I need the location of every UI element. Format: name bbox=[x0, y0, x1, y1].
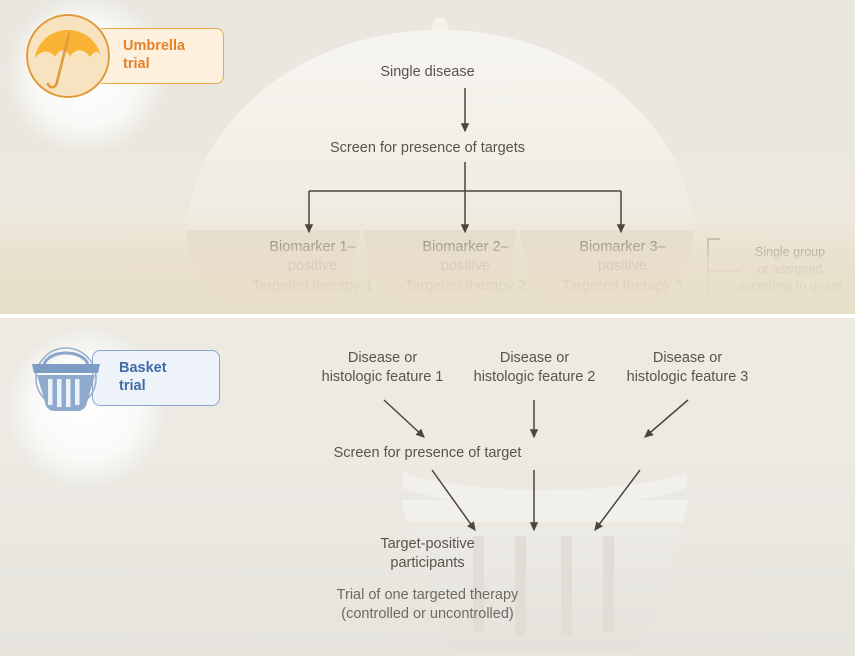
clinical-trial-designs-figure: Umbrella trial Single disease Screen for… bbox=[0, 0, 855, 656]
outcome-line1: Trial of one targeted therapy bbox=[337, 587, 519, 603]
outcome-line2: (controlled or uncontrolled) bbox=[341, 606, 513, 622]
bracket-note-line3: according to group bbox=[738, 279, 842, 293]
branch-1-line1: Biomarker 1– bbox=[269, 239, 355, 255]
basket-node-screen: Screen for presence of target bbox=[0, 444, 855, 463]
basket-pool-label: Target-positive participants bbox=[0, 535, 855, 574]
basket-input-3: Disease or histologic feature 3 bbox=[605, 349, 770, 388]
input-2-line1: Disease or bbox=[500, 350, 569, 366]
umbrella-icon bbox=[26, 14, 110, 98]
pool-line2: participants bbox=[390, 555, 464, 571]
branch-1-line2: positive bbox=[288, 258, 337, 274]
input-1-line1: Disease or bbox=[348, 350, 417, 366]
basket-input-1: Disease or histologic feature 1 bbox=[300, 349, 465, 388]
umbrella-branch-3: Biomarker 3– positive Targeted therapy 3 bbox=[535, 238, 710, 296]
branch-3-line1: Biomarker 3– bbox=[579, 239, 665, 255]
basket-outcome-label: Trial of one targeted therapy (controlle… bbox=[0, 586, 855, 625]
basket-input-2: Disease or histologic feature 2 bbox=[452, 349, 617, 388]
branch-2-line1: Biomarker 2– bbox=[422, 239, 508, 255]
umbrella-single-disease-label: Single disease bbox=[380, 64, 474, 80]
umbrella-screen-label: Screen for presence of targets bbox=[330, 140, 525, 156]
branch-3-line3: Targeted therapy 3 bbox=[562, 278, 683, 294]
umbrella-badge-label-line2: trial bbox=[123, 56, 150, 72]
basket-trial-badge[interactable]: Basket trial bbox=[26, 338, 220, 418]
basket-badge-label-line2: trial bbox=[119, 378, 146, 394]
umbrella-node-screen: Screen for presence of targets bbox=[0, 139, 855, 158]
umbrella-badge-label-line1: Umbrella bbox=[123, 38, 185, 54]
bracket-note-line1: Single group bbox=[755, 245, 825, 259]
branch-2-line3: Targeted therapy 2 bbox=[405, 278, 526, 294]
basket-badge-label: Basket trial bbox=[92, 350, 220, 405]
pool-line1: Target-positive bbox=[380, 536, 474, 552]
umbrella-branch-2: Biomarker 2– positive Targeted therapy 2 bbox=[378, 238, 553, 296]
input-3-line2: histologic feature 3 bbox=[627, 369, 749, 385]
input-2-line2: histologic feature 2 bbox=[474, 369, 596, 385]
bracket-note-line2: or assigned bbox=[758, 262, 823, 276]
umbrella-branch-1: Biomarker 1– positive Targeted therapy 1 bbox=[225, 238, 400, 296]
basket-trial-section: Basket trial Disease or histologic featu… bbox=[0, 318, 855, 656]
umbrella-badge-label: Umbrella trial bbox=[96, 28, 224, 83]
branch-1-line3: Targeted therapy 1 bbox=[252, 278, 373, 294]
umbrella-trial-section: Umbrella trial Single disease Screen for… bbox=[0, 0, 855, 314]
umbrella-bracket-note: Single group or assigned according to gr… bbox=[728, 244, 852, 295]
basket-screen-label: Screen for presence of target bbox=[334, 445, 522, 461]
input-3-line1: Disease or bbox=[653, 350, 722, 366]
branch-2-line2: positive bbox=[441, 258, 490, 274]
basket-icon bbox=[26, 338, 106, 418]
umbrella-trial-badge[interactable]: Umbrella trial bbox=[26, 14, 224, 98]
input-1-line2: histologic feature 1 bbox=[322, 369, 444, 385]
basket-badge-label-line1: Basket bbox=[119, 360, 167, 376]
branch-3-line2: positive bbox=[598, 258, 647, 274]
